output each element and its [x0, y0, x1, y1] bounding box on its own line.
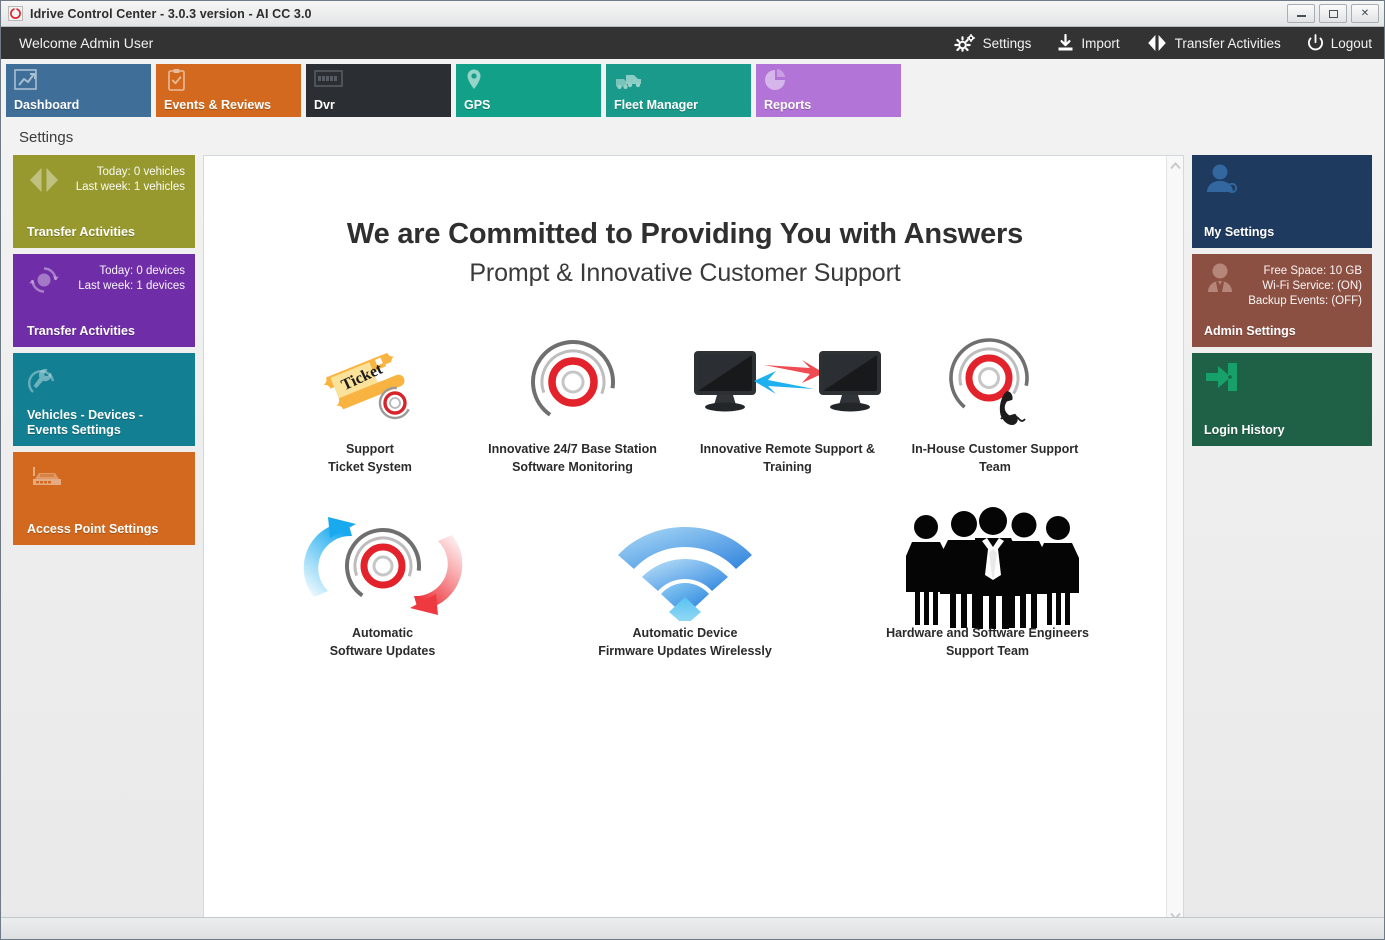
- hero-subheadline: Prompt & Innovative Customer Support: [204, 259, 1166, 288]
- tile-stat-line: Backup Events: (OFF): [1248, 294, 1362, 309]
- router-icon: [27, 462, 67, 499]
- nav-tile-label: Dashboard: [14, 98, 79, 112]
- support-ticket-icon: Ticket: [318, 332, 422, 432]
- feature-base-station-monitoring: Innovative 24/7 Base StationSoftware Mon…: [465, 332, 680, 476]
- feature-engineers-support-team: Hardware and Software EngineersSupport T…: [838, 516, 1138, 660]
- login-door-icon: [1204, 361, 1240, 398]
- engineers-team-icon: [888, 516, 1088, 616]
- nav-tile-label: GPS: [464, 98, 490, 112]
- feature-firmware-updates-wirelessly: Automatic DeviceFirmware Updates Wireles…: [533, 516, 838, 660]
- close-button[interactable]: ✕: [1351, 4, 1379, 23]
- main-vertical-scrollbar[interactable]: [1166, 156, 1183, 929]
- nav-tile-label: Events & Reviews: [164, 98, 271, 112]
- scroll-up-arrow-icon[interactable]: [1170, 156, 1181, 179]
- feature-automatic-software-updates: AutomaticSoftware Updates: [233, 516, 533, 660]
- nav-tile-fleet-manager[interactable]: Fleet Manager: [606, 64, 751, 117]
- vehicles-icon: [614, 79, 644, 96]
- header-import-label: Import: [1081, 36, 1119, 51]
- map-pin-icon: [464, 79, 484, 96]
- feature-label: AutomaticSoftware Updates: [330, 624, 436, 660]
- software-update-target-icon: [292, 516, 474, 616]
- feature-row-1: Ticket SupportTicket System: [204, 332, 1166, 476]
- download-icon: [1057, 34, 1074, 52]
- feature-label: Innovative 24/7 Base StationSoftware Mon…: [488, 440, 657, 476]
- maximize-icon: [1329, 10, 1338, 18]
- pie-chart-icon: [764, 79, 788, 96]
- nav-tile-label: Reports: [764, 98, 811, 112]
- feature-label: Innovative Remote Support &Training: [700, 440, 875, 476]
- minimize-icon: [1297, 15, 1306, 17]
- sidebar-item-label: Transfer Activities: [27, 324, 135, 339]
- sidebar-item-label: My Settings: [1204, 225, 1274, 240]
- feature-support-ticket-system: Ticket SupportTicket System: [275, 332, 465, 476]
- close-icon: ✕: [1361, 8, 1369, 19]
- header-actions: Settings Import Transf: [954, 34, 1372, 52]
- user-settings-icon: [1204, 163, 1240, 202]
- body-layout: Today: 0 vehicles Last week: 1 vehicles …: [1, 155, 1384, 930]
- page-title: Settings: [1, 119, 1384, 155]
- header-logout-label: Logout: [1331, 36, 1372, 51]
- base-station-target-icon: [525, 332, 621, 432]
- feature-label: Automatic DeviceFirmware Updates Wireles…: [598, 624, 772, 660]
- admin-user-icon: [1204, 262, 1238, 301]
- nav-tile-dvr[interactable]: Dvr: [306, 64, 451, 117]
- application-window: Idrive Control Center - 3.0.3 version - …: [0, 0, 1385, 940]
- nav-tile-events-reviews[interactable]: Events & Reviews: [156, 64, 301, 117]
- sidebar-item-admin-settings[interactable]: Free Space: 10 GB Wi-Fi Service: (ON) Ba…: [1192, 254, 1372, 347]
- remote-monitors-icon: [690, 332, 885, 432]
- window-title: Idrive Control Center - 3.0.3 version - …: [30, 7, 312, 21]
- sidebar-item-vehicles-devices-events-settings[interactable]: Vehicles - Devices - Events Settings: [13, 353, 195, 446]
- wifi-signal-icon: [610, 516, 760, 616]
- wrench-icon: [27, 363, 61, 400]
- gear-icon: [954, 34, 976, 52]
- header-settings-label: Settings: [983, 36, 1032, 51]
- transfer-arrows-icon: [1146, 34, 1168, 52]
- feature-label: Hardware and Software EngineersSupport T…: [886, 624, 1089, 660]
- nav-tile-gps[interactable]: GPS: [456, 64, 601, 117]
- tile-stat-line: Last week: 1 devices: [78, 279, 185, 294]
- sidebar-item-my-settings[interactable]: My Settings: [1192, 155, 1372, 248]
- tile-stats: Today: 0 devices Last week: 1 devices: [78, 264, 185, 294]
- main-content-panel: We are Committed to Providing You with A…: [203, 155, 1184, 930]
- hero-section: We are Committed to Providing You with A…: [204, 156, 1166, 288]
- header-settings-button[interactable]: Settings: [954, 34, 1032, 52]
- tile-stats: Free Space: 10 GB Wi-Fi Service: (ON) Ba…: [1248, 264, 1362, 309]
- feature-remote-support-training: Innovative Remote Support &Training: [680, 332, 895, 476]
- sidebar-item-label: Vehicles - Devices - Events Settings: [27, 408, 187, 438]
- tile-stat-line: Today: 0 vehicles: [76, 165, 185, 180]
- title-bar: Idrive Control Center - 3.0.3 version - …: [1, 1, 1384, 27]
- tile-stat-line: Free Space: 10 GB: [1248, 264, 1362, 279]
- sidebar-item-transfer-activities-vehicles[interactable]: Today: 0 vehicles Last week: 1 vehicles …: [13, 155, 195, 248]
- hero-headline: We are Committed to Providing You with A…: [204, 218, 1166, 251]
- sidebar-item-access-point-settings[interactable]: Access Point Settings: [13, 452, 195, 545]
- tile-stats: Today: 0 vehicles Last week: 1 vehicles: [76, 165, 185, 195]
- power-icon: [1307, 34, 1324, 52]
- right-sidebar: My Settings Free Space: 10 GB Wi-Fi Serv…: [1192, 155, 1372, 930]
- welcome-text: Welcome Admin User: [19, 35, 153, 51]
- sidebar-item-label: Login History: [1204, 423, 1285, 438]
- sidebar-item-login-history[interactable]: Login History: [1192, 353, 1372, 446]
- tile-stat-line: Today: 0 devices: [78, 264, 185, 279]
- status-bar: [1, 917, 1384, 939]
- tile-stat-line: Wi-Fi Service: (ON): [1248, 279, 1362, 294]
- main-navigation: Dashboard Events & Reviews: [1, 59, 1384, 119]
- clipboard-check-icon: [164, 79, 190, 96]
- dvr-icon: [314, 77, 344, 94]
- nav-tile-dashboard[interactable]: Dashboard: [6, 64, 151, 117]
- chart-trend-icon: [14, 79, 40, 96]
- sidebar-item-label: Access Point Settings: [27, 522, 158, 537]
- nav-tile-label: Dvr: [314, 98, 335, 112]
- header-import-button[interactable]: Import: [1057, 34, 1119, 52]
- feature-row-2: AutomaticSoftware Updates: [204, 516, 1166, 660]
- feature-label: SupportTicket System: [328, 440, 412, 476]
- tile-stat-line: Last week: 1 vehicles: [76, 180, 185, 195]
- feature-label: In-House Customer SupportTeam: [912, 440, 1079, 476]
- record-circle-icon: [8, 6, 23, 21]
- transfer-arrows-icon: [27, 165, 61, 200]
- left-sidebar: Today: 0 vehicles Last week: 1 vehicles …: [13, 155, 195, 930]
- window-controls: ✕: [1287, 4, 1379, 23]
- sidebar-item-transfer-activities-devices[interactable]: Today: 0 devices Last week: 1 devices Tr…: [13, 254, 195, 347]
- nav-tile-reports[interactable]: Reports: [756, 64, 901, 117]
- main-scroll-area: We are Committed to Providing You with A…: [204, 156, 1166, 929]
- feature-in-house-support-team: In-House Customer SupportTeam: [895, 332, 1095, 476]
- header-transfer-label: Transfer Activities: [1175, 36, 1281, 51]
- header-transfer-activities-button[interactable]: Transfer Activities: [1146, 34, 1281, 52]
- maximize-button[interactable]: [1319, 4, 1347, 23]
- support-phone-target-icon: [945, 332, 1045, 432]
- nav-tile-label: Fleet Manager: [614, 98, 698, 112]
- minimize-button[interactable]: [1287, 4, 1315, 23]
- sidebar-item-label: Admin Settings: [1204, 324, 1296, 339]
- header-bar: Welcome Admin User Settings: [1, 27, 1384, 59]
- sync-circle-icon: [27, 264, 61, 301]
- sidebar-item-label: Transfer Activities: [27, 225, 135, 240]
- header-logout-button[interactable]: Logout: [1307, 34, 1372, 52]
